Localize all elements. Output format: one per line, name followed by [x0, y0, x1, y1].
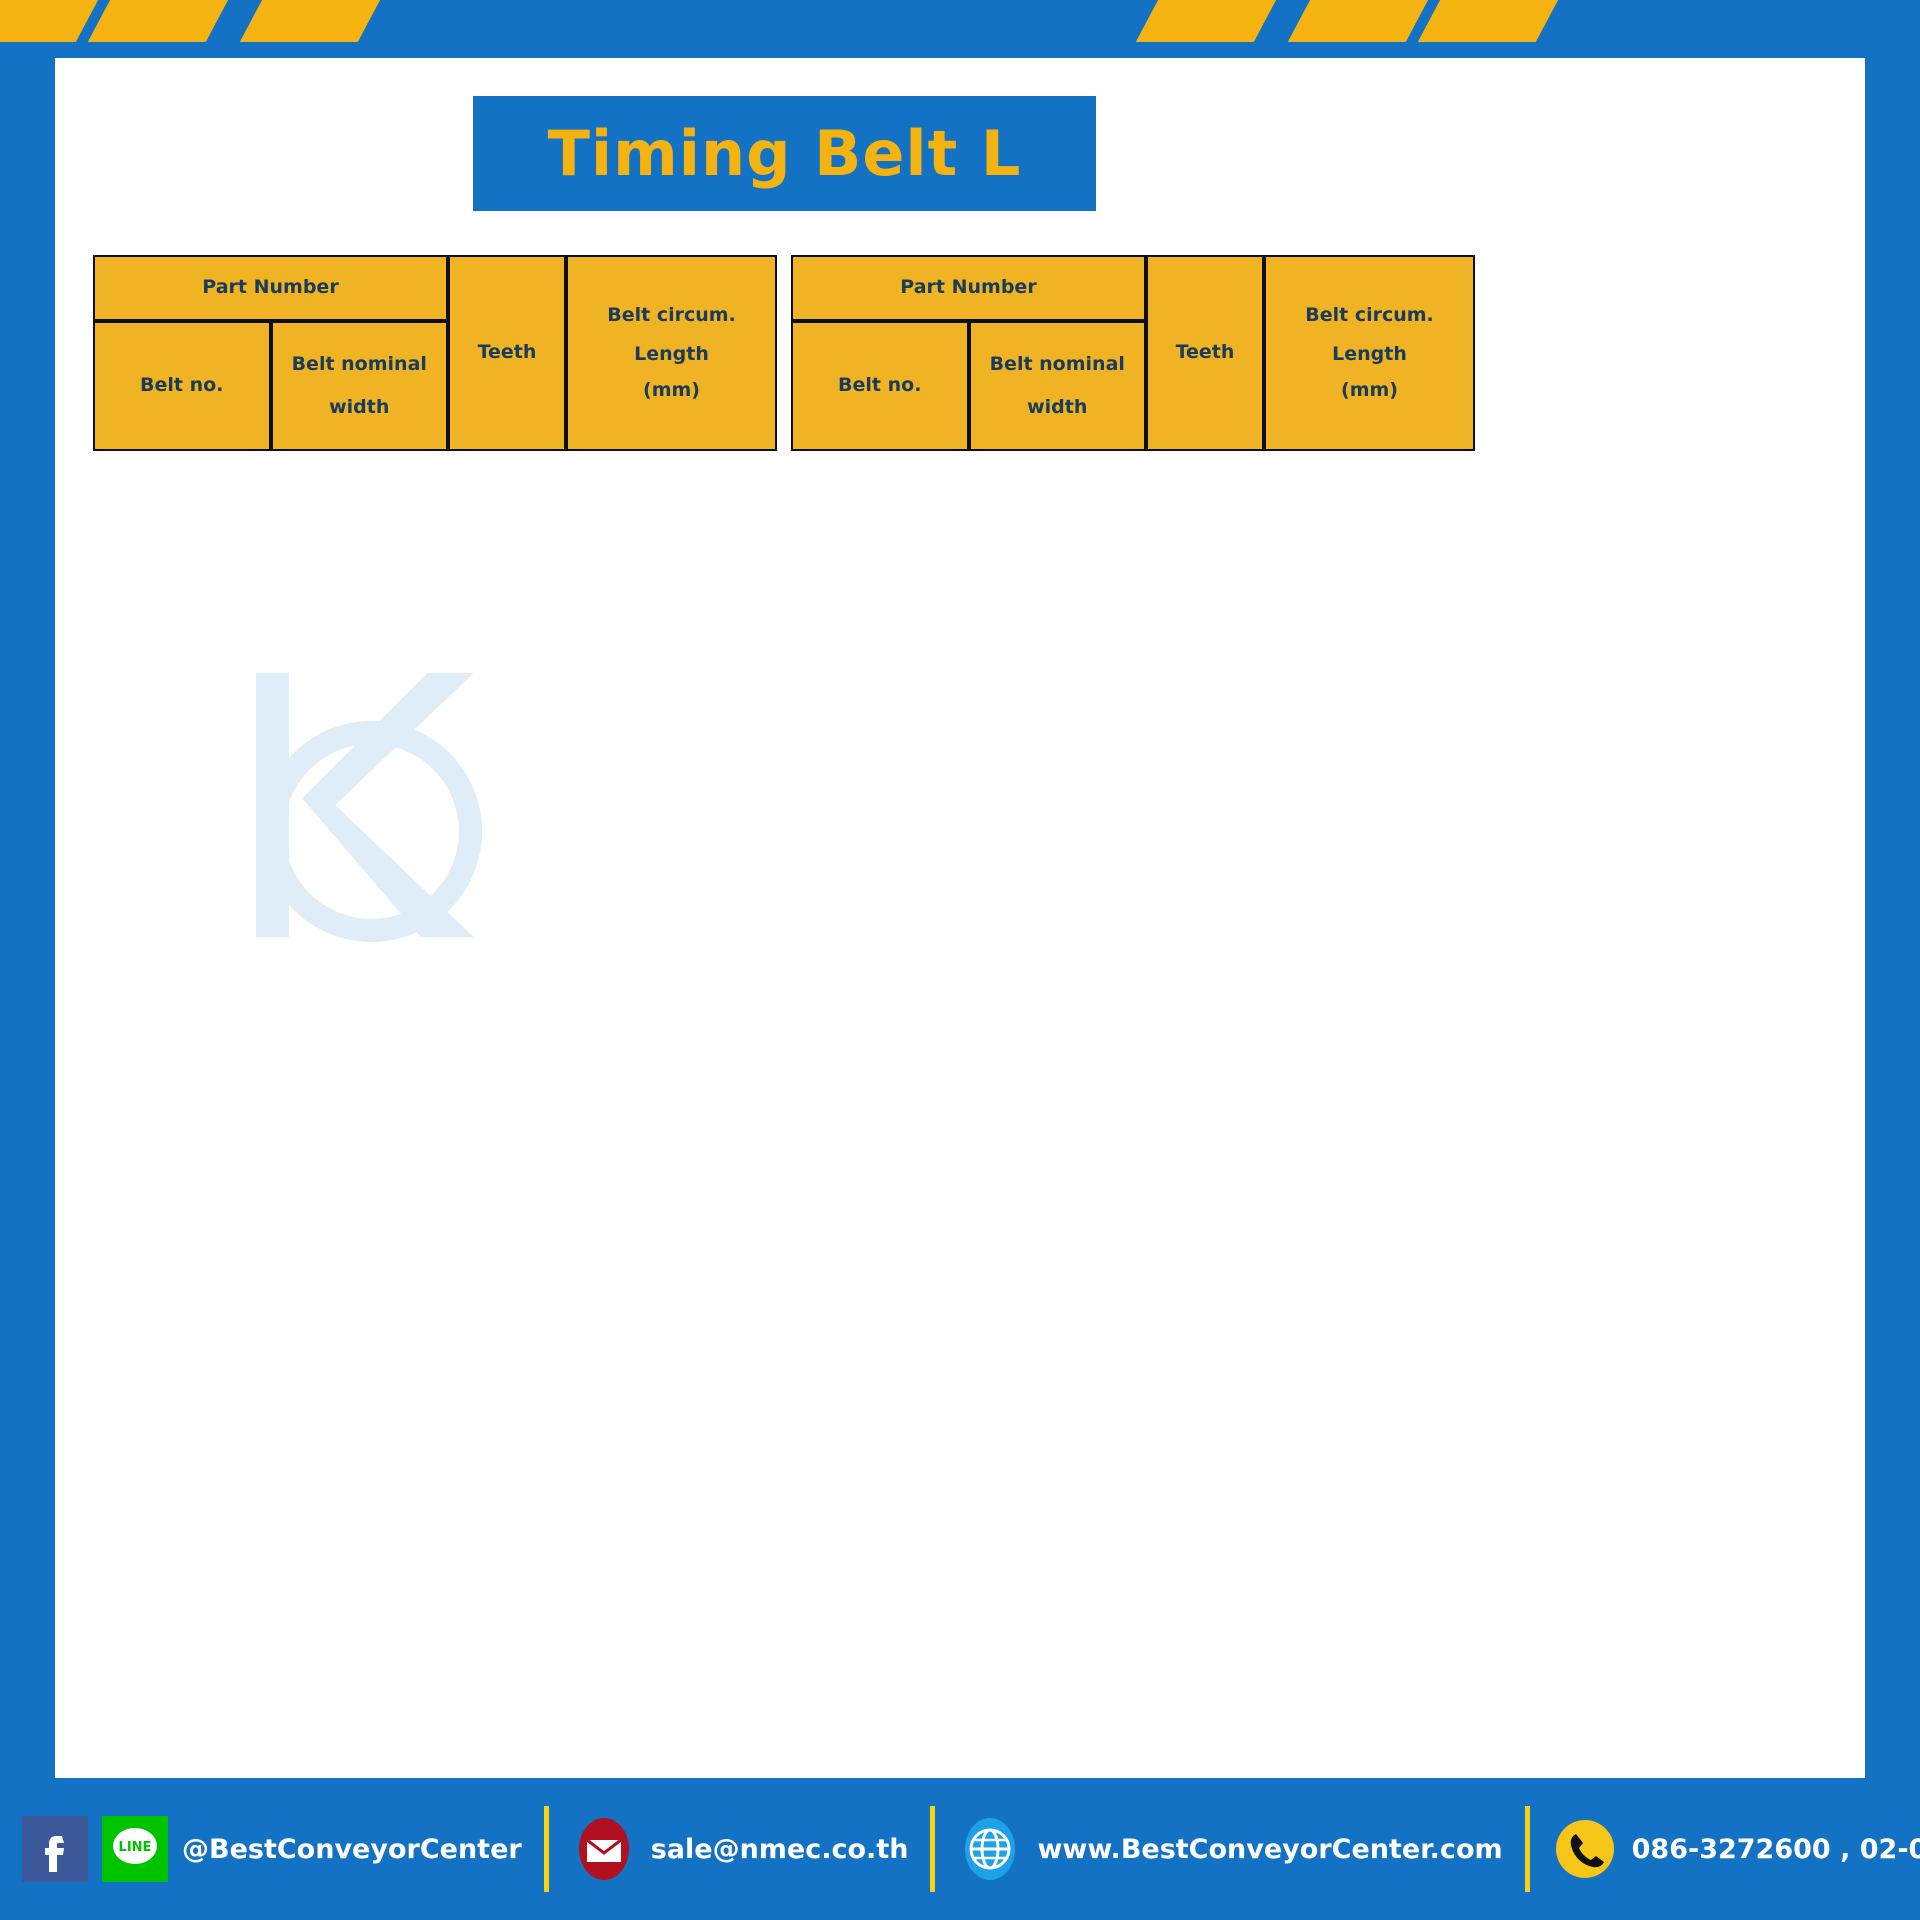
footer-website-url[interactable]: www.BestConveyorCenter.com — [1037, 1834, 1502, 1865]
footer-phone-number[interactable]: 086-3272600 , 02-0017766 — [1632, 1834, 1920, 1865]
header-length-line: Length — [568, 340, 775, 369]
line-icon[interactable]: LINE — [102, 1816, 168, 1882]
top-chevron-decoration — [0, 0, 1920, 58]
header-belt-no: Belt no. — [93, 321, 271, 451]
footer-email-group[interactable]: sale@nmec.co.th — [549, 1778, 931, 1920]
footer-social-handle[interactable]: @BestConveyorCenter — [182, 1834, 522, 1865]
svg-text:LINE: LINE — [119, 1840, 152, 1855]
globe-icon[interactable] — [957, 1816, 1023, 1882]
footer-phone-group[interactable]: 086-3272600 , 02-0017766 — [1530, 1778, 1920, 1920]
header-belt-no: Belt no. — [791, 321, 969, 451]
chevron-shape — [88, 0, 230, 42]
header-belt-nominal-width: Belt nominal width — [969, 321, 1147, 451]
header-part-number: Part Number — [791, 255, 1146, 321]
table-head: Part Number Teeth Belt circum. Length (m… — [93, 255, 777, 451]
timing-belt-table-left: Part Number Teeth Belt circum. Length (m… — [93, 255, 777, 451]
page-title-banner: Timing Belt L — [473, 96, 1096, 211]
header-length-line: Length — [1266, 340, 1473, 369]
header-belt-nominal-line: Belt nominal — [971, 350, 1145, 379]
footer-email-address[interactable]: sale@nmec.co.th — [651, 1834, 909, 1865]
chevron-shape — [1288, 0, 1430, 42]
timing-belt-table-right: Part Number Teeth Belt circum. Length (m… — [791, 255, 1475, 451]
page-title: Timing Belt L — [548, 117, 1022, 190]
chevron-shape — [240, 0, 382, 42]
header-belt-circum-line: Belt circum. — [1266, 301, 1473, 330]
poster-root: Timing Belt L Part Number Teeth Belt cir… — [0, 0, 1920, 1920]
header-teeth: Teeth — [1146, 255, 1264, 451]
header-belt-circum-line: Belt circum. — [568, 301, 775, 330]
phone-icon[interactable] — [1552, 1816, 1618, 1882]
header-row-top: Part Number Teeth Belt circum. Length (m… — [791, 255, 1475, 321]
table-head: Part Number Teeth Belt circum. Length (m… — [791, 255, 1475, 451]
header-belt-nominal-line: Belt nominal — [273, 350, 447, 379]
header-teeth: Teeth — [448, 255, 566, 451]
footer-contact-bar: LINE @BestConveyorCenter sale@nmec.co.th… — [0, 1778, 1920, 1920]
header-belt-circum-length: Belt circum. Length (mm) — [566, 255, 777, 451]
footer-social-group[interactable]: LINE @BestConveyorCenter — [0, 1778, 544, 1920]
facebook-icon[interactable] — [22, 1816, 88, 1882]
header-belt-nominal-width: Belt nominal width — [271, 321, 449, 451]
header-row-top: Part Number Teeth Belt circum. Length (m… — [93, 255, 777, 321]
header-unit-line: (mm) — [568, 376, 775, 405]
chevron-shape — [1136, 0, 1278, 42]
chevron-shape — [1418, 0, 1560, 42]
email-icon[interactable] — [571, 1816, 637, 1882]
header-unit-line: (mm) — [1266, 376, 1473, 405]
header-width-line: width — [273, 393, 447, 422]
chevron-shape — [0, 0, 100, 42]
header-width-line: width — [971, 393, 1145, 422]
footer-website-group[interactable]: www.BestConveyorCenter.com — [935, 1778, 1524, 1920]
header-part-number: Part Number — [93, 255, 448, 321]
header-belt-circum-length: Belt circum. Length (mm) — [1264, 255, 1475, 451]
